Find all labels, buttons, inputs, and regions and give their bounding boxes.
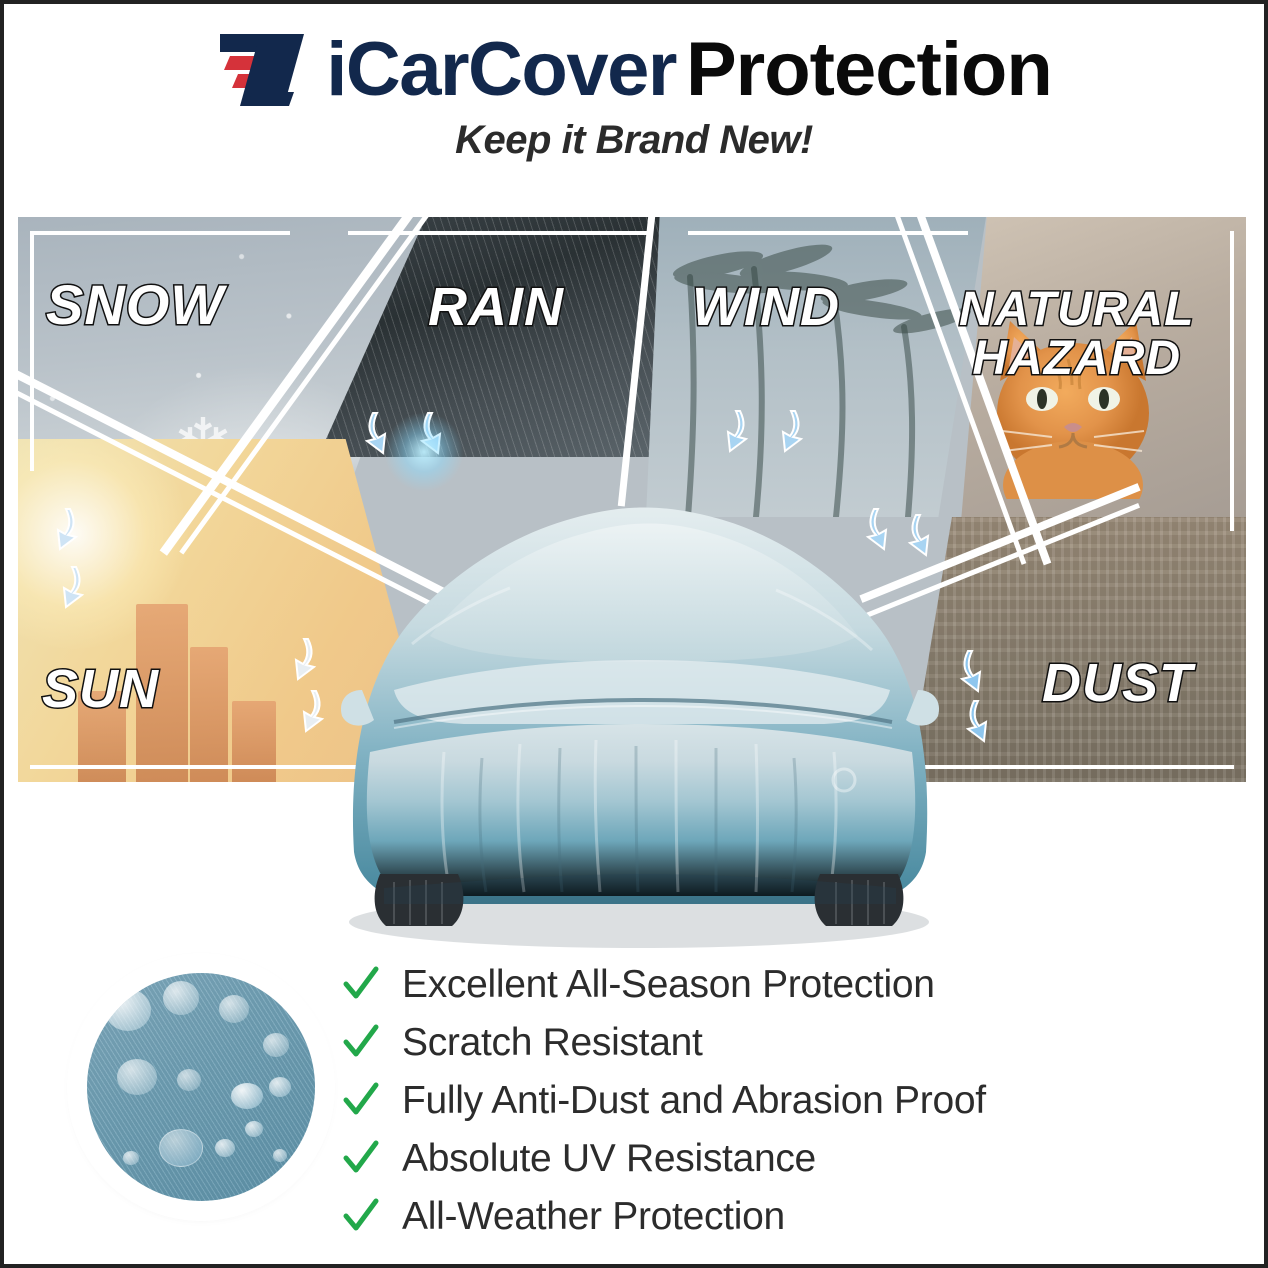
collage-frame-line: [688, 231, 968, 235]
water-bead: [163, 981, 199, 1015]
page-header: iCarCover Protection Keep it Brand New!: [4, 4, 1264, 163]
collage-frame-line: [30, 231, 290, 235]
deflection-arrow-icon: [958, 649, 1000, 695]
panel-label-snow: SNOW: [46, 276, 224, 333]
collage-frame-line: [348, 231, 648, 235]
water-bead: [263, 1033, 289, 1057]
panel-label-rain: RAIN: [428, 280, 564, 335]
water-bead: [123, 1151, 139, 1165]
feature-item: Absolute UV Resistance: [342, 1130, 1202, 1188]
water-bead: [105, 989, 151, 1031]
feature-label: Absolute UV Resistance: [402, 1137, 816, 1181]
green-check-icon: [342, 966, 380, 1004]
water-bead: [269, 1077, 291, 1097]
water-bead: [245, 1121, 263, 1137]
water-bead: [117, 1059, 157, 1095]
title-row: iCarCover Protection: [4, 30, 1264, 110]
brand-name: iCarCover: [326, 32, 676, 108]
deflection-arrow-icon: [284, 689, 326, 735]
fabric-swatch-inner: [87, 973, 315, 1201]
feature-label: Excellent All-Season Protection: [402, 963, 935, 1007]
building-shape: [232, 701, 276, 782]
panel-label-wind: WIND: [692, 280, 840, 335]
deflection-arrow-icon: [44, 565, 86, 611]
water-bead: [159, 1129, 203, 1167]
deflection-arrow-icon: [964, 699, 1006, 745]
covered-car-image: [324, 422, 954, 952]
green-check-icon: [342, 1140, 380, 1178]
feature-item: Fully Anti-Dust and Abrasion Proof: [342, 1072, 1202, 1130]
panel-label-sun: SUN: [42, 662, 159, 717]
panel-label-dust: DUST: [1042, 656, 1193, 711]
water-bead: [231, 1083, 263, 1109]
water-beading-fabric-closeup: [76, 962, 326, 1212]
feature-list: Excellent All-Season Protection Scratch …: [342, 956, 1202, 1246]
cover-shine-highlight: [384, 412, 464, 492]
brand-suffix: Protection: [686, 32, 1052, 108]
icarcover-wing-logo-icon: [216, 30, 316, 110]
building-shape: [190, 647, 228, 782]
collage-frame-line: [918, 765, 1234, 769]
water-bead: [273, 1149, 287, 1162]
green-check-icon: [342, 1198, 380, 1236]
deflection-arrow-icon: [276, 637, 318, 683]
water-bead: [215, 1139, 235, 1157]
water-bead: [177, 1069, 201, 1091]
feature-item: Excellent All-Season Protection: [342, 956, 1202, 1014]
feature-item: Scratch Resistant: [342, 1014, 1202, 1072]
panel-label-natural-hazard: NATURAL HAZARD: [959, 286, 1194, 384]
page-subtitle: Keep it Brand New!: [4, 118, 1264, 163]
water-bead: [219, 995, 249, 1023]
green-check-icon: [342, 1082, 380, 1120]
car-cover-product-infographic: { "header": { "brand": "iCarCover", "bra…: [0, 0, 1268, 1268]
green-check-icon: [342, 1024, 380, 1062]
feature-label: Scratch Resistant: [402, 1021, 703, 1065]
feature-item: All-Weather Protection: [342, 1188, 1202, 1246]
feature-label: Fully Anti-Dust and Abrasion Proof: [402, 1079, 986, 1123]
feature-label: All-Weather Protection: [402, 1195, 785, 1239]
collage-frame-line: [30, 231, 34, 471]
deflection-arrow-icon: [38, 507, 80, 553]
collage-frame-line: [1230, 231, 1234, 531]
car-cover-illustration: [324, 422, 954, 952]
